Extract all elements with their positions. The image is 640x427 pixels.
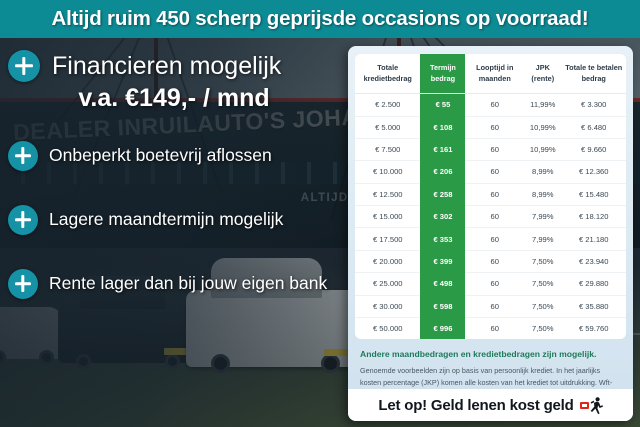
cell-looptijd: 60 (465, 183, 524, 205)
cell-looptijd: 60 (465, 94, 524, 116)
cell-totaal: € 9.660 (561, 138, 626, 160)
table-row: € 7.500€ 1616010,99%€ 9.660 (355, 138, 626, 160)
cell-termijn: € 55 (420, 94, 465, 116)
finance-headline-line2: v.a. €149,- / mnd (8, 82, 340, 115)
cell-looptijd: 60 (465, 138, 524, 160)
cell-jkp: 7,50% (524, 273, 561, 295)
column-header-looptijd: Looptijd in maanden (465, 54, 524, 94)
credit-warning-text: Let op! Geld lenen kost geld (378, 397, 573, 414)
table-row: € 15.000€ 302607,99%€ 18.120 (355, 206, 626, 228)
cell-totaal: € 3.300 (561, 94, 626, 116)
plus-icon (8, 205, 38, 235)
cell-krediet: € 50.000 (355, 317, 420, 339)
cell-termijn: € 399 (420, 250, 465, 272)
cell-krediet: € 12.500 (355, 183, 420, 205)
cell-jkp: 10,99% (524, 138, 561, 160)
table-header-row: Totale kredietbedrag Termijn bedrag Loop… (355, 54, 626, 94)
table-row: € 10.000€ 206608,99%€ 12.360 (355, 161, 626, 183)
cell-termijn: € 206 (420, 161, 465, 183)
cell-looptijd: 60 (465, 295, 524, 317)
finance-headline: Financieren mogelijk (8, 50, 340, 82)
geld-lenen-kost-geld-logo (580, 397, 603, 414)
cell-totaal: € 12.360 (561, 161, 626, 183)
cell-termijn: € 108 (420, 116, 465, 138)
cell-totaal: € 23.940 (561, 250, 626, 272)
credit-note-title: Andere maandbedragen en kredietbedragen … (360, 349, 621, 360)
cell-jkp: 8,99% (524, 183, 561, 205)
advertisement-banner: DEALER INRUILAUTO'S JOHAN MEURE ALTIJD 4… (0, 0, 640, 427)
cell-termijn: € 161 (420, 138, 465, 160)
cell-totaal: € 21.180 (561, 228, 626, 250)
benefit-label: Onbeperkt boetevrij aflossen (49, 145, 272, 166)
red-block-icon (580, 402, 589, 409)
cell-krediet: € 10.000 (355, 161, 420, 183)
credit-warning-bar: Let op! Geld lenen kost geld (348, 389, 633, 421)
cell-krediet: € 17.500 (355, 228, 420, 250)
plus-icon (8, 269, 38, 299)
finance-headline-line1: Financieren mogelijk (52, 52, 281, 81)
headline-banner: Altijd ruim 450 scherp geprijsde occasio… (0, 0, 640, 38)
table-row: € 5.000€ 1086010,99%€ 6.480 (355, 116, 626, 138)
column-header-jkp: JPK (rente) (524, 54, 561, 94)
cell-totaal: € 29.880 (561, 273, 626, 295)
table-row: € 17.500€ 353607,99%€ 21.180 (355, 228, 626, 250)
cell-totaal: € 15.480 (561, 183, 626, 205)
table-row: € 12.500€ 258608,99%€ 15.480 (355, 183, 626, 205)
credit-info-card: Totale kredietbedrag Termijn bedrag Loop… (348, 46, 633, 421)
cell-krediet: € 2.500 (355, 94, 420, 116)
benefit-item-3: Rente lager dan bij jouw eigen bank (0, 269, 348, 299)
cell-krediet: € 20.000 (355, 250, 420, 272)
cell-krediet: € 15.000 (355, 206, 420, 228)
benefit-item-2: Lagere maandtermijn mogelijk (0, 205, 348, 235)
column-header-krediet: Totale kredietbedrag (355, 54, 420, 94)
cell-termijn: € 353 (420, 228, 465, 250)
column-header-termijn: Termijn bedrag (420, 54, 465, 94)
cell-krediet: € 30.000 (355, 295, 420, 317)
cell-totaal: € 59.760 (561, 317, 626, 339)
cell-looptijd: 60 (465, 250, 524, 272)
table-row: € 25.000€ 498607,50%€ 29.880 (355, 273, 626, 295)
cell-looptijd: 60 (465, 228, 524, 250)
running-man-icon (590, 397, 603, 414)
headline-banner-text: Altijd ruim 450 scherp geprijsde occasio… (52, 7, 589, 31)
benefit-label: Rente lager dan bij jouw eigen bank (49, 273, 327, 294)
left-content-column: Financieren mogelijk v.a. €149,- / mnd O… (0, 38, 348, 427)
benefit-list: Onbeperkt boetevrij aflossen Lagere maan… (0, 141, 348, 299)
cell-jkp: 11,99% (524, 94, 561, 116)
cell-termijn: € 598 (420, 295, 465, 317)
cell-termijn: € 996 (420, 317, 465, 339)
cell-jkp: 7,50% (524, 295, 561, 317)
cell-totaal: € 35.880 (561, 295, 626, 317)
credit-table-wrapper: Totale kredietbedrag Termijn bedrag Loop… (355, 54, 626, 339)
cell-krediet: € 25.000 (355, 273, 420, 295)
cell-looptijd: 60 (465, 161, 524, 183)
table-row: € 2.500€ 556011,99%€ 3.300 (355, 94, 626, 116)
cell-looptijd: 60 (465, 317, 524, 339)
cell-looptijd: 60 (465, 206, 524, 228)
cell-looptijd: 60 (465, 273, 524, 295)
benefit-label: Lagere maandtermijn mogelijk (49, 209, 283, 230)
credit-table-body: € 2.500€ 556011,99%€ 3.300€ 5.000€ 10860… (355, 94, 626, 340)
cell-termijn: € 258 (420, 183, 465, 205)
credit-table-head: Totale kredietbedrag Termijn bedrag Loop… (355, 54, 626, 94)
cell-jkp: 7,99% (524, 228, 561, 250)
table-row: € 20.000€ 399607,50%€ 23.940 (355, 250, 626, 272)
cell-krediet: € 7.500 (355, 138, 420, 160)
cell-totaal: € 6.480 (561, 116, 626, 138)
cell-looptijd: 60 (465, 116, 524, 138)
plus-icon (8, 141, 38, 171)
plus-icon (8, 50, 40, 82)
table-row: € 50.000€ 996607,50%€ 59.760 (355, 317, 626, 339)
table-row: € 30.000€ 598607,50%€ 35.880 (355, 295, 626, 317)
finance-headline-block: Financieren mogelijk v.a. €149,- / mnd (0, 44, 348, 115)
cell-krediet: € 5.000 (355, 116, 420, 138)
cell-termijn: € 302 (420, 206, 465, 228)
cell-termijn: € 498 (420, 273, 465, 295)
benefit-item-1: Onbeperkt boetevrij aflossen (0, 141, 348, 171)
column-header-totaal: Totale te betalen bedrag (561, 54, 626, 94)
credit-table: Totale kredietbedrag Termijn bedrag Loop… (355, 54, 626, 339)
cell-jkp: 7,50% (524, 317, 561, 339)
cell-jkp: 7,99% (524, 206, 561, 228)
cell-jkp: 7,50% (524, 250, 561, 272)
cell-jkp: 10,99% (524, 116, 561, 138)
cell-totaal: € 18.120 (561, 206, 626, 228)
cell-jkp: 8,99% (524, 161, 561, 183)
